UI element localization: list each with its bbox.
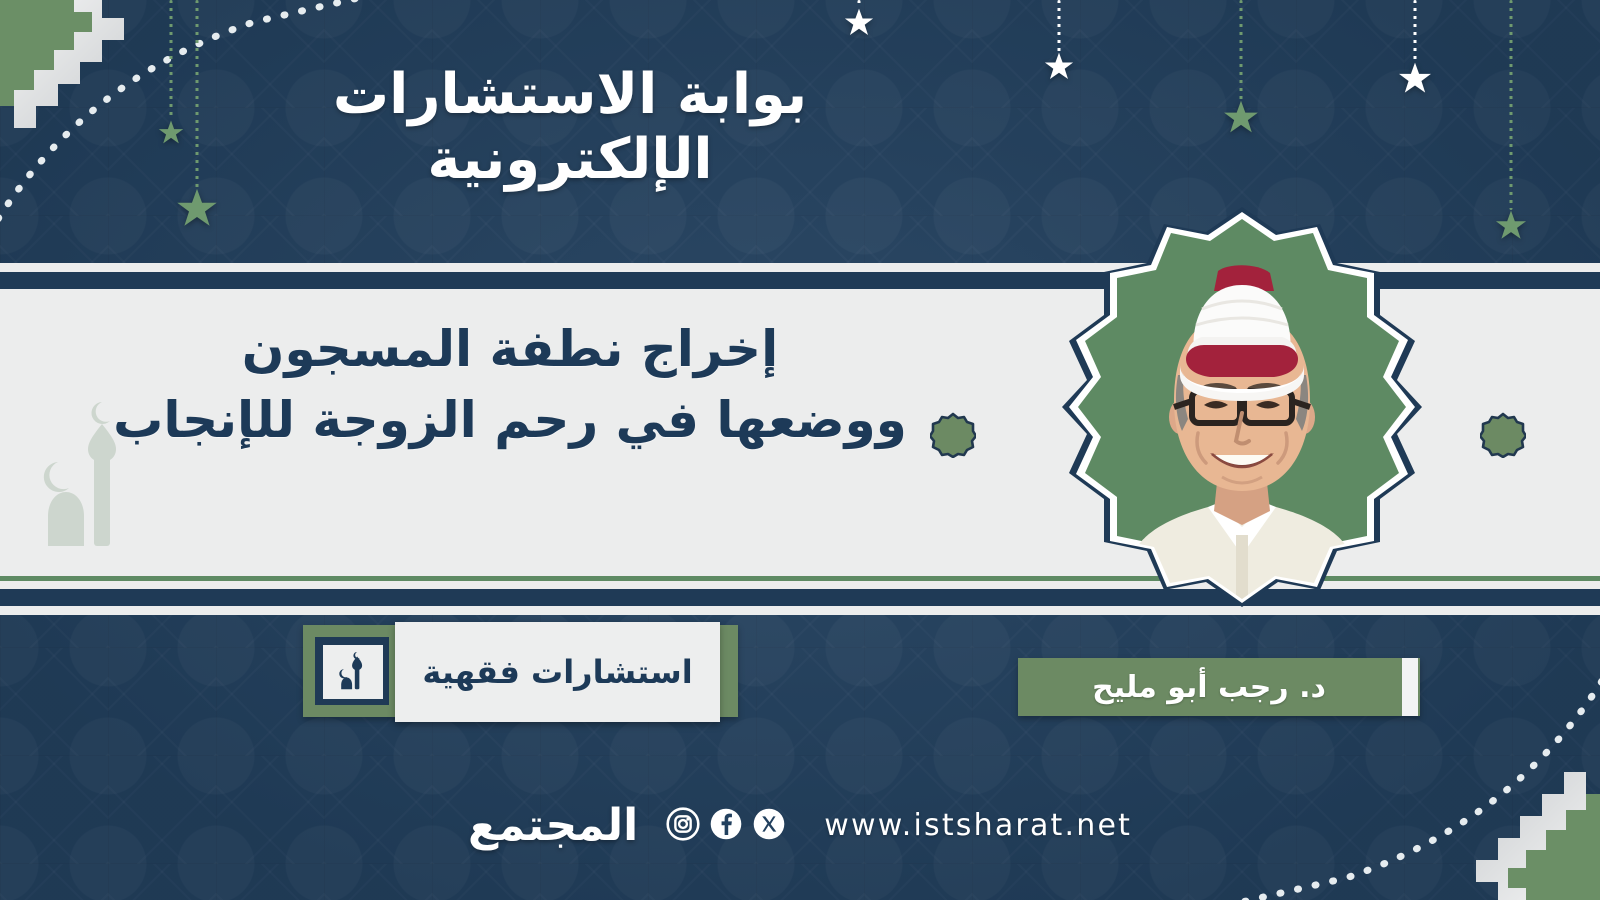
- left-rosette-dot-icon: [930, 412, 976, 462]
- header-calligraphy-title: بوابة الاستشارات الإلكترونية: [200, 62, 940, 192]
- page-title: إخراج نطفة المسجون ووضعها في رحم الزوجة …: [95, 318, 925, 452]
- footer-bar: المجتمع: [0, 778, 1600, 873]
- star-string: [1414, 0, 1417, 62]
- mosque-crescent-logo-icon: [323, 645, 383, 699]
- star-string: [858, 0, 861, 8]
- star-glyph-icon: [176, 188, 218, 228]
- star-string: [1058, 0, 1061, 52]
- name-bar-accent: [1402, 658, 1418, 716]
- star-glyph-icon: [1044, 52, 1074, 81]
- star-glyph-icon: [844, 8, 874, 37]
- star-string: [170, 0, 173, 120]
- title-line-1: إخراج نطفة المسجون: [95, 318, 925, 381]
- right-rosette-dot-icon: [1480, 412, 1526, 462]
- category-badge-plate: استشارات فقهية: [395, 622, 720, 722]
- star-glyph-icon: [1398, 62, 1432, 94]
- star-string: [196, 0, 199, 188]
- title-line-2: ووضعها في رحم الزوجة للإنجاب: [95, 389, 925, 452]
- social-links-row: [666, 807, 786, 845]
- star-glyph-icon: [1223, 100, 1259, 134]
- category-badge-label: استشارات فقهية: [422, 653, 692, 691]
- brand-logo-almujtama: المجتمع: [468, 800, 638, 851]
- instagram-icon[interactable]: [666, 807, 700, 845]
- speaker-portrait: [1022, 205, 1462, 609]
- website-url[interactable]: www.istsharat.net: [824, 808, 1132, 843]
- poster-canvas: إخراج نطفة المسجون ووضعها في رحم الزوجة …: [0, 0, 1600, 900]
- facebook-icon[interactable]: [709, 807, 743, 845]
- speaker-name-label: د. رجب أبو مليح: [1092, 670, 1326, 705]
- speaker-name-bar: د. رجب أبو مليح: [1018, 658, 1420, 716]
- star-glyph-icon: [1495, 210, 1527, 240]
- x-twitter-icon[interactable]: [752, 807, 786, 845]
- star-glyph-icon: [158, 120, 184, 145]
- star-string: [1510, 0, 1513, 210]
- star-string: [1240, 0, 1243, 100]
